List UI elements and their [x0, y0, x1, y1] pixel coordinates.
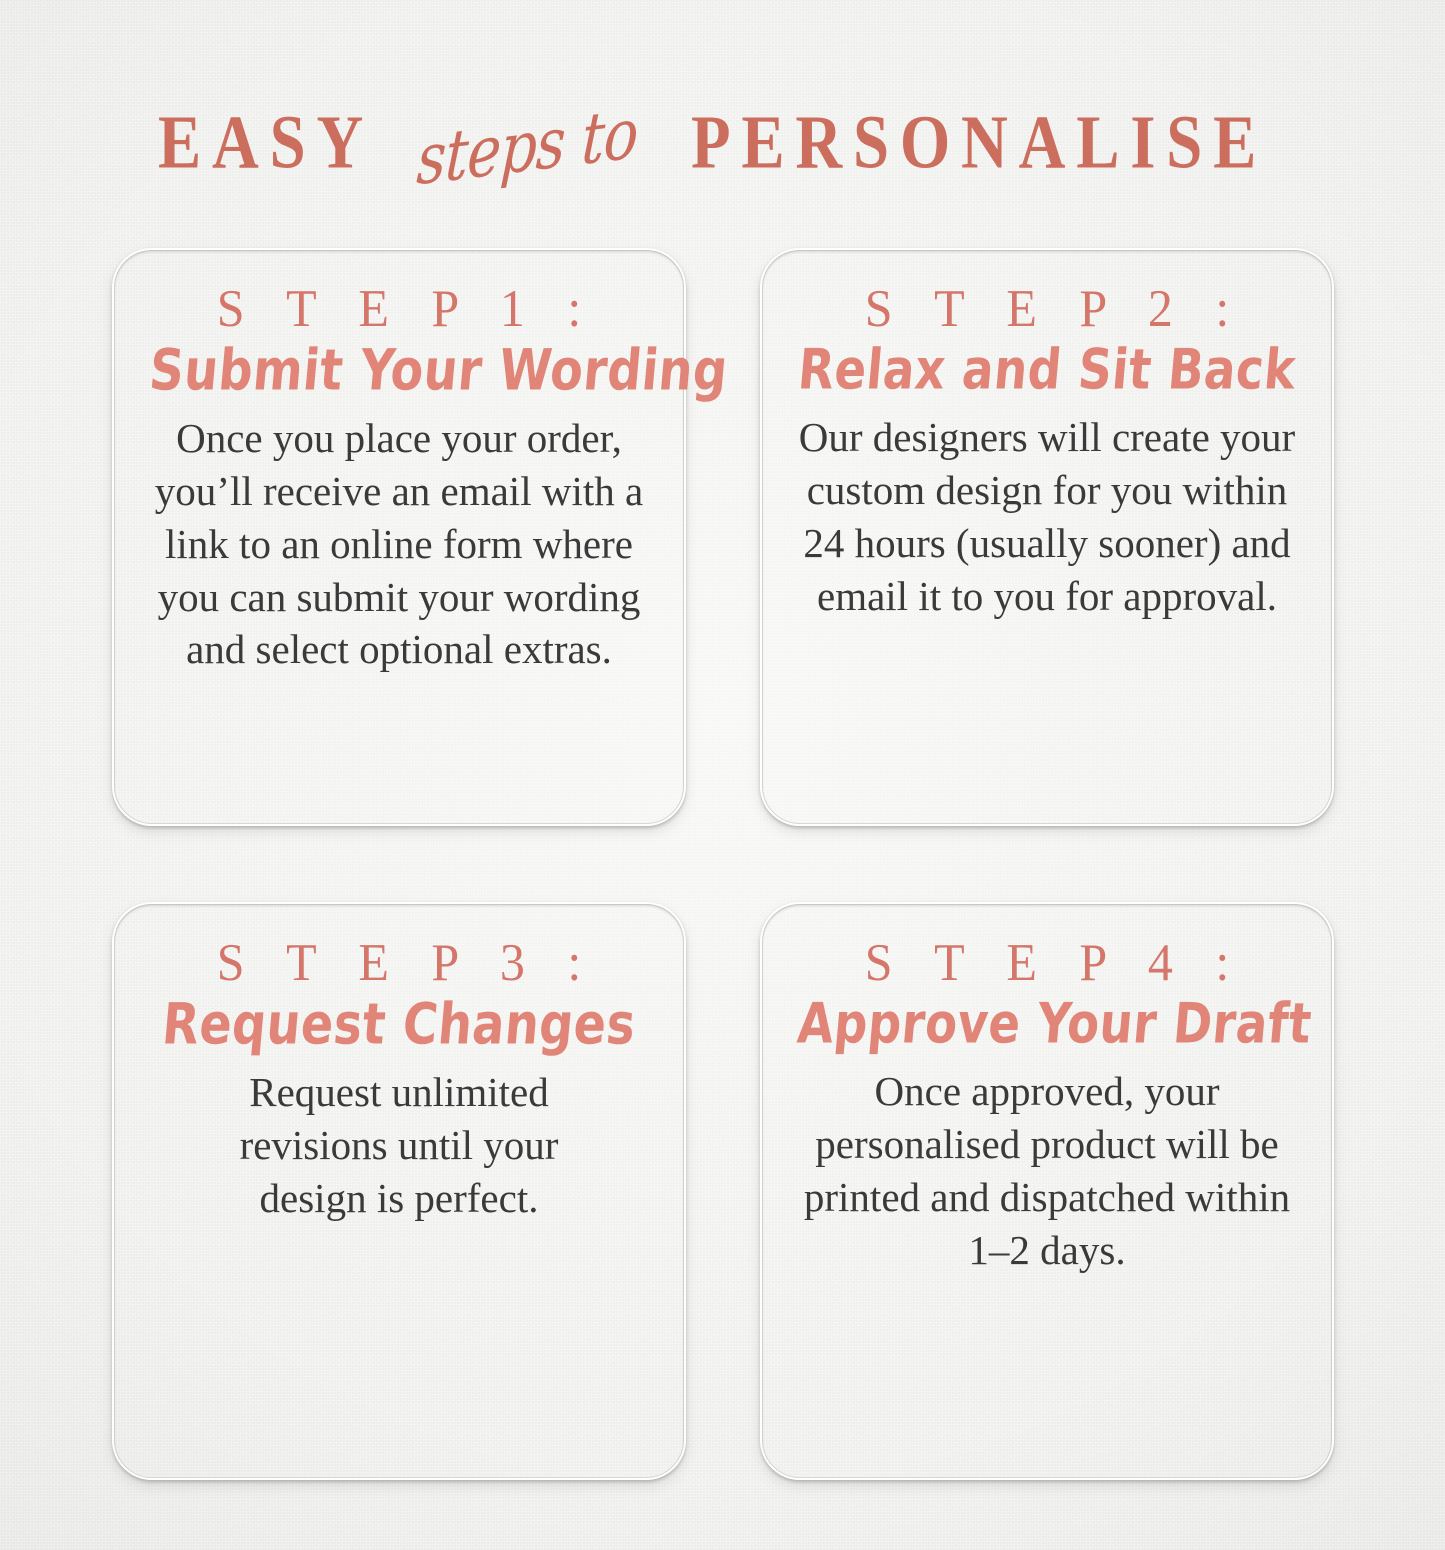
step-4-label: S T E P 4 : — [790, 935, 1304, 990]
step-1-title: Submit Your Wording — [147, 340, 651, 400]
personalisation-steps-page: EASYsteps toPERSONALISE S T E P 1 : Subm… — [0, 0, 1445, 1550]
step-4-title: Approve Your Draft — [795, 994, 1299, 1052]
step-2-label: S T E P 2 : — [790, 281, 1304, 336]
page-title: EASYsteps toPERSONALISE — [0, 108, 1445, 180]
step-1-body: Once you place your order, you’ll receiv… — [142, 412, 656, 676]
step-card-1: S T E P 1 : Submit Your Wording Once you… — [112, 248, 686, 826]
step-2-title: Relax and Sit Back — [795, 340, 1299, 398]
step-2-body: Our designers will create your custom de… — [797, 411, 1297, 623]
steps-grid: S T E P 1 : Submit Your Wording Once you… — [112, 248, 1334, 1480]
page-title-word-personalise: PERSONALISE — [691, 104, 1267, 180]
step-3-body: Request unlimited revisions until your d… — [189, 1066, 609, 1225]
steps-row-bottom: S T E P 3 : Request Changes Request unli… — [112, 902, 1334, 1480]
step-card-2: S T E P 2 : Relax and Sit Back Our desig… — [760, 248, 1334, 826]
step-3-title: Request Changes — [147, 994, 651, 1054]
step-1-label: S T E P 1 : — [142, 281, 656, 336]
step-card-4: S T E P 4 : Approve Your Draft Once appr… — [760, 902, 1334, 1480]
page-title-word-easy: EASY — [158, 104, 374, 180]
steps-row-top: S T E P 1 : Submit Your Wording Once you… — [112, 248, 1334, 826]
step-card-3: S T E P 3 : Request Changes Request unli… — [112, 902, 686, 1480]
page-title-script-steps-to: steps to — [415, 98, 639, 195]
step-4-body: Once approved, your personalised product… — [790, 1065, 1304, 1277]
step-3-label: S T E P 3 : — [142, 935, 656, 990]
